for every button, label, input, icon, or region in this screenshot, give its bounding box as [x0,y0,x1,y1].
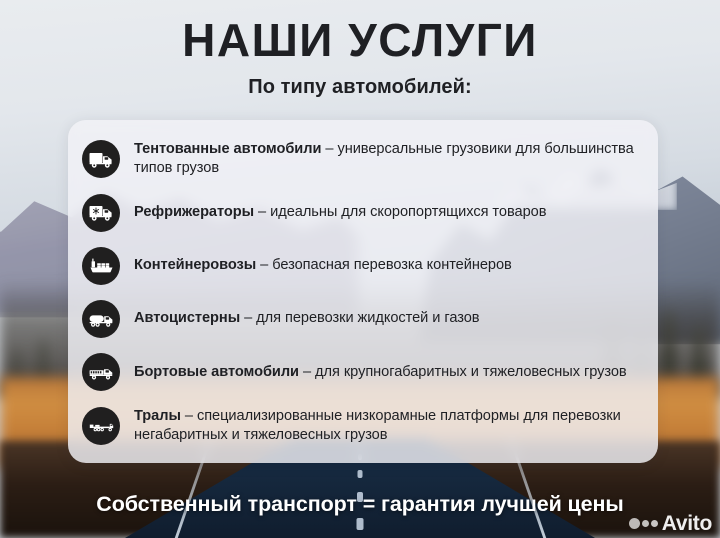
avito-wordmark: Avito [662,513,712,534]
service-term: Автоцистерны [134,310,240,326]
service-term: Контейнеровозы [134,257,256,273]
service-description: – для перевозки жидкостей и газов [240,310,479,326]
list-item: Автоцистерны – для перевозки жидкостей и… [82,299,640,339]
lowboy-trailer-icon [82,407,120,445]
list-item: Тралы – специализированные низкорамные п… [82,406,640,447]
tanker-truck-icon [82,300,120,338]
list-item-text: Контейнеровозы – безопасная перевозка ко… [134,256,512,275]
avito-logo-icon [629,518,658,529]
list-item: Бортовые автомобили – для крупногабаритн… [82,352,640,392]
list-item: Тентованные автомобили – универсальные г… [82,139,640,180]
service-description: – безопасная перевозка контейнеров [256,257,512,273]
avito-dot-large [629,518,640,529]
page-title: НАШИ УСЛУГИ [0,16,720,65]
service-description: – специализированные низкорамные платфор… [134,408,621,443]
bottom-banner-text: Собственный транспорт = гарантия лучшей … [0,492,720,517]
service-term: Бортовые автомобили [134,364,299,380]
box-truck-icon [82,140,120,178]
service-description: – идеальны для скоропортящихся товаров [254,204,546,220]
list-item-text: Рефрижераторы – идеальны для скоропортящ… [134,203,546,222]
avito-watermark: Avito [629,513,712,534]
list-item: Рефрижераторы – идеальны для скоропортящ… [82,193,640,233]
avito-dot-small [642,520,649,527]
list-item-text: Тралы – специализированные низкорамные п… [134,407,640,446]
service-term: Рефрижераторы [134,204,254,220]
page-subtitle: По типу автомобилей: [0,76,720,99]
service-description: – для крупногабаритных и тяжеловесных гр… [299,364,627,380]
service-term: Тентованные автомобили [134,141,321,157]
services-card: Тентованные автомобили – универсальные г… [68,120,658,463]
list-item-text: Бортовые автомобили – для крупногабаритн… [134,363,627,382]
poster: НАШИ УСЛУГИ По типу автомобилей: Тентова [0,0,720,538]
service-term: Тралы [134,408,181,424]
road-center-dash [357,518,364,530]
container-ship-icon [82,247,120,285]
avito-dot-accent [651,520,658,527]
flatbed-truck-icon [82,353,120,391]
header: НАШИ УСЛУГИ По типу автомобилей: [0,16,720,99]
list-item-text: Автоцистерны – для перевозки жидкостей и… [134,309,480,328]
refrigerated-truck-icon [82,194,120,232]
list-item-text: Тентованные автомобили – универсальные г… [134,140,640,179]
list-item: Контейнеровозы – безопасная перевозка ко… [82,246,640,286]
road-center-dash [358,470,363,478]
